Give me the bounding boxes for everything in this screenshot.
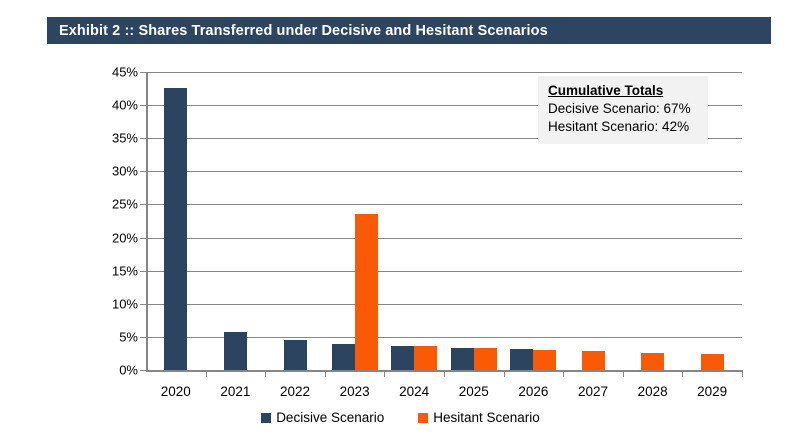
cumulative-total-decisive: Decisive Scenario: 67% (548, 100, 698, 118)
y-axis-tick (140, 171, 146, 172)
bar-hesitant-2025 (474, 348, 497, 370)
x-axis-tick-label: 2023 (325, 384, 385, 399)
gridline (146, 304, 742, 305)
cumulative-totals-heading: Cumulative Totals (548, 83, 698, 98)
bar-hesitant-2027 (582, 351, 605, 370)
x-axis-tick (742, 370, 743, 377)
bar-decisive-2021 (224, 332, 247, 370)
x-axis-tick-label: 2020 (146, 384, 206, 399)
x-axis-tick (504, 370, 505, 377)
y-axis-tick (140, 370, 146, 371)
cumulative-total-hesitant: Hesitant Scenario: 42% (548, 118, 698, 136)
bar-decisive-2025 (451, 348, 474, 371)
x-axis-tick-label: 2027 (563, 384, 623, 399)
legend-item-decisive: Decisive Scenario (261, 410, 384, 425)
y-axis-tick (140, 204, 146, 205)
y-axis-tick-label: 10% (112, 296, 138, 311)
y-axis-tick-label: 15% (112, 263, 138, 278)
bar-hesitant-2024 (414, 346, 437, 370)
x-axis-tick (384, 370, 385, 377)
y-axis-tick-label: 5% (119, 329, 138, 344)
gridline (146, 271, 742, 272)
y-axis-tick-label: 25% (112, 197, 138, 212)
y-axis-tick (140, 72, 146, 73)
x-axis-tick-label: 2022 (265, 384, 325, 399)
bar-hesitant-2026 (533, 350, 556, 370)
y-axis-tick-label: 30% (112, 164, 138, 179)
y-axis-tick (140, 337, 146, 338)
x-axis-tick (682, 370, 683, 377)
bar-chart: % of Shares Transferred 0%5%10%15%20%25%… (0, 0, 801, 448)
x-axis-tick-label: 2025 (444, 384, 504, 399)
x-axis-tick-label: 2028 (623, 384, 683, 399)
gridline (146, 72, 742, 73)
gridline (146, 204, 742, 205)
bar-decisive-2020 (164, 88, 187, 370)
chart-legend: Decisive Scenario Hesitant Scenario (0, 410, 801, 425)
x-axis-tick-label: 2024 (384, 384, 444, 399)
x-axis-tick (206, 370, 207, 377)
y-axis-tick-label: 35% (112, 131, 138, 146)
legend-label-hesitant: Hesitant Scenario (433, 410, 540, 425)
bar-hesitant-2023 (355, 214, 378, 370)
y-axis-tick-label: 0% (119, 363, 138, 378)
legend-label-decisive: Decisive Scenario (276, 410, 384, 425)
x-axis-tick (444, 370, 445, 377)
bar-hesitant-2028 (641, 353, 664, 370)
y-axis-tick (140, 105, 146, 106)
x-axis-tick (623, 370, 624, 377)
legend-swatch-icon-decisive (261, 413, 271, 423)
x-axis-tick (563, 370, 564, 377)
y-axis-tick-label: 40% (112, 98, 138, 113)
x-axis-tick-label: 2021 (206, 384, 266, 399)
cumulative-totals-callout: Cumulative Totals Decisive Scenario: 67%… (538, 76, 708, 144)
bar-decisive-2026 (510, 349, 533, 370)
y-axis-tick-label: 20% (112, 230, 138, 245)
y-axis-tick-label: 45% (112, 65, 138, 80)
bar-decisive-2024 (391, 346, 414, 370)
x-axis-tick (325, 370, 326, 377)
y-axis-tick-labels: 0%5%10%15%20%25%30%35%40%45% (90, 72, 138, 370)
y-axis-tick (140, 238, 146, 239)
bar-decisive-2023 (332, 344, 355, 370)
gridline (146, 238, 742, 239)
y-axis-line (146, 72, 148, 370)
legend-item-hesitant: Hesitant Scenario (418, 410, 540, 425)
x-axis-tick-label: 2029 (682, 384, 742, 399)
y-axis-tick (140, 138, 146, 139)
y-axis-tick (140, 304, 146, 305)
gridline (146, 171, 742, 172)
y-axis-tick (140, 271, 146, 272)
x-axis-tick (265, 370, 266, 377)
bar-decisive-2022 (284, 340, 307, 370)
bar-hesitant-2029 (701, 354, 724, 370)
legend-swatch-icon-hesitant (418, 413, 428, 423)
x-axis-tick-label: 2026 (504, 384, 564, 399)
